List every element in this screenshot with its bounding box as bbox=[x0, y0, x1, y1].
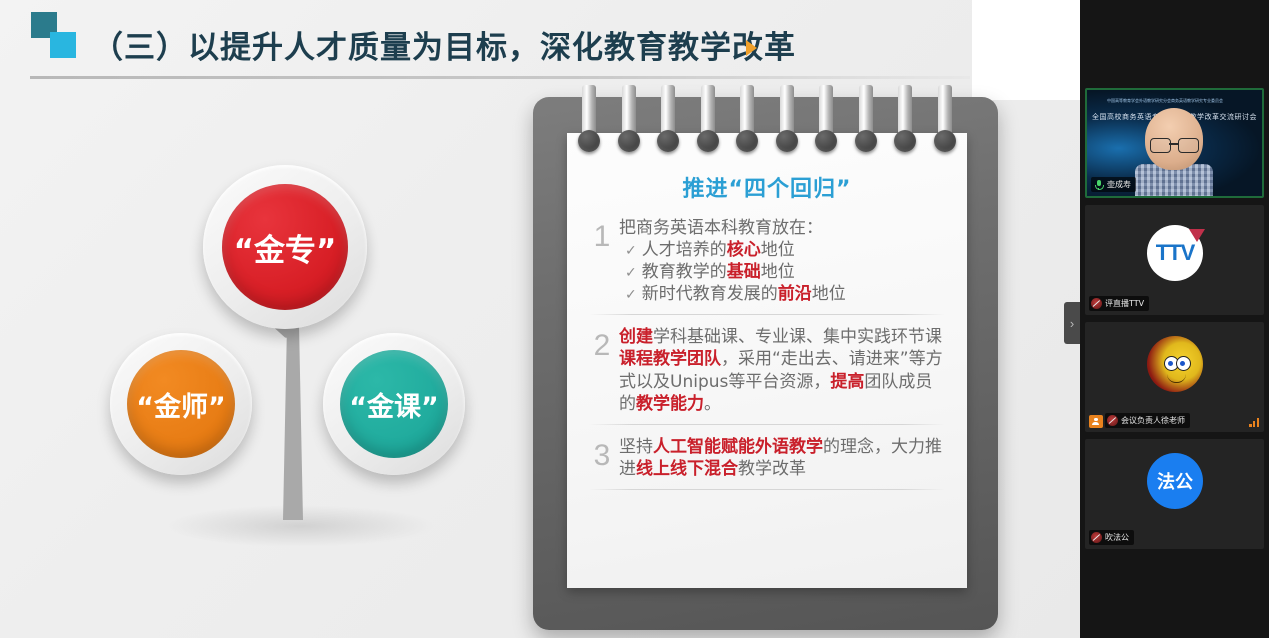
notepad-item-1: 1 把商务英语本科教育放在： ✓人才培养的核心地位 ✓教育教学的基础地位 ✓新时… bbox=[585, 217, 949, 305]
page-title: （三）以提升人才质量为目标，深化教育教学改革 bbox=[92, 22, 796, 67]
ttv-avatar-text: TTV bbox=[1156, 240, 1195, 266]
presentation-slide: （三）以提升人才质量为目标，深化教育教学改革 福建商学院 FUJIAN BUSI… bbox=[0, 0, 1080, 638]
notepad-item-2-seg-7: 教学能力 bbox=[636, 394, 704, 414]
notepad-item-2-seg-1: 创建 bbox=[619, 327, 653, 347]
microphone-muted-icon bbox=[1107, 415, 1118, 426]
check-2-post: 地位 bbox=[761, 262, 795, 282]
signal-strength-icon bbox=[1249, 418, 1259, 427]
notepad-item-1-number: 1 bbox=[585, 217, 619, 253]
spiral-ring bbox=[776, 130, 798, 152]
check-icon: ✓ bbox=[625, 243, 637, 259]
check-icon: ✓ bbox=[625, 287, 637, 303]
notepad-item-3: 3 坚持人工智能赋能外语教学的理念，大力推进线上线下混合教学改革 bbox=[585, 436, 949, 480]
tree-node-jinshi: “金师” bbox=[110, 333, 252, 475]
check-3-highlight: 前沿 bbox=[778, 284, 812, 304]
ttv-name-bar: 评直播TTV bbox=[1089, 296, 1149, 311]
spiral-ring bbox=[618, 130, 640, 152]
university-logo-backdrop: 福建商学院 FUJIAN BUSINESS UNIVERSITY bbox=[972, 0, 1080, 100]
participant-tile-host[interactable]: 会议负责人徐老师 bbox=[1085, 322, 1264, 432]
glasses-bridge bbox=[1169, 143, 1178, 145]
fagong-name-bar: 吹法公 bbox=[1089, 530, 1134, 545]
avatar-pupil-left bbox=[1168, 361, 1173, 366]
notepad-item-2-seg-5: 提高 bbox=[830, 372, 864, 392]
spiral-ring bbox=[934, 130, 956, 152]
glasses-icon bbox=[1149, 138, 1199, 151]
microphone-muted-icon bbox=[1091, 298, 1102, 309]
notepad-item-3-number: 3 bbox=[585, 436, 619, 472]
app-root: （三）以提升人才质量为目标，深化教育教学改革 福建商学院 FUJIAN BUSI… bbox=[0, 0, 1269, 638]
host-avatar bbox=[1147, 336, 1203, 392]
spiral-ring bbox=[894, 130, 916, 152]
notepad-item-1-check-2: ✓教育教学的基础地位 bbox=[619, 261, 949, 283]
spiral-ring bbox=[697, 130, 719, 152]
speaker-banner-subtitle: 中国高等教育学会外语教学研究分会商务英语教学研究专业委员会 bbox=[1107, 98, 1223, 104]
notepad-item-3-seg-5: 教学改革 bbox=[738, 459, 806, 479]
check-1-highlight: 核心 bbox=[727, 240, 761, 260]
ttv-display-name: 评直播TTV bbox=[1105, 298, 1144, 309]
notepad-divider-1 bbox=[589, 314, 945, 315]
notepad-item-1-lead: 把商务英语本科教育放在： bbox=[619, 217, 949, 239]
notepad-spiral-binding bbox=[567, 85, 967, 155]
avatar-pupil-right bbox=[1180, 361, 1185, 366]
decoration-square-light bbox=[50, 32, 76, 58]
host-display-name: 会议负责人徐老师 bbox=[1121, 415, 1185, 426]
microphone-muted-icon bbox=[1091, 532, 1102, 543]
speaker-display-name: 壶成寿 bbox=[1107, 179, 1131, 190]
notepad-item-3-seg-4: 线上线下混合 bbox=[636, 459, 738, 479]
check-2-pre: 教育教学的 bbox=[642, 262, 727, 282]
notepad-divider-3 bbox=[589, 489, 945, 490]
check-3-post: 地位 bbox=[812, 284, 846, 304]
participant-tile-ttv[interactable]: TTV 评直播TTV bbox=[1085, 205, 1264, 315]
check-1-pre: 人才培养的 bbox=[642, 240, 727, 260]
fagong-display-name: 吹法公 bbox=[1105, 532, 1129, 543]
notepad-item-3-seg-1: 坚持 bbox=[619, 437, 653, 457]
notepad-item-2: 2 创建学科基础课、专业课、集中实践环节课课程教学团队，采用“走出去、请进来”等… bbox=[585, 326, 949, 414]
notepad-item-2-seg-2: 学科基础课、专业课、集中实践环节课 bbox=[653, 327, 942, 347]
notepad-item-2-seg-3: 课程教学团队 bbox=[619, 349, 721, 369]
participant-tile-fagong[interactable]: 法公 吹法公 bbox=[1085, 439, 1264, 549]
ttv-avatar: TTV bbox=[1147, 225, 1203, 281]
chevron-right-icon[interactable]: › bbox=[1064, 302, 1080, 344]
avatar-mouth bbox=[1167, 374, 1186, 383]
notepad-item-2-number: 2 bbox=[585, 326, 619, 362]
tree-node-jinke-label: “金课” bbox=[340, 350, 448, 458]
notepad-item-1-check-1: ✓人才培养的核心地位 bbox=[619, 239, 949, 261]
title-arrow-icon bbox=[746, 40, 757, 56]
three-gold-tree-graphic: “金专” “金师” “金课” bbox=[110, 175, 490, 595]
notepad-item-2-text: 创建学科基础课、专业课、集中实践环节课课程教学团队，采用“走出去、请进来”等方式… bbox=[619, 326, 949, 414]
check-2-highlight: 基础 bbox=[727, 262, 761, 282]
notepad-item-1-text: 把商务英语本科教育放在： ✓人才培养的核心地位 ✓教育教学的基础地位 ✓新时代教… bbox=[619, 217, 949, 305]
check-3-pre: 新时代教育发展的 bbox=[642, 284, 778, 304]
notepad-item-3-text: 坚持人工智能赋能外语教学的理念，大力推进线上线下混合教学改革 bbox=[619, 436, 949, 480]
speaker-name-bar: 壶成寿 bbox=[1091, 177, 1136, 192]
participant-tile-speaker[interactable]: 中国高等教育学会外语教学研究分会商务英语教学研究专业委员会 全国高校商务英语专业… bbox=[1085, 88, 1264, 198]
tree-node-jinshi-label: “金师” bbox=[127, 350, 235, 458]
spiral-ring bbox=[657, 130, 679, 152]
tree-node-jinzhuan: “金专” bbox=[203, 165, 367, 329]
spiral-ring bbox=[855, 130, 877, 152]
spiral-ring bbox=[736, 130, 758, 152]
notepad-item-2-seg-8: 。 bbox=[704, 394, 721, 414]
tree-node-jinke: “金课” bbox=[323, 333, 465, 475]
header-divider bbox=[30, 76, 970, 79]
check-1-post: 地位 bbox=[761, 240, 795, 260]
notepad-heading: 推进“四个回归” bbox=[585, 171, 949, 203]
spiral-ring bbox=[578, 130, 600, 152]
video-participant-sidebar: 中国高等教育学会外语教学研究分会商务英语教学研究专业委员会 全国高校商务英语专业… bbox=[1080, 0, 1269, 638]
speaker-person bbox=[1139, 108, 1209, 198]
ttv-triangle-icon bbox=[1189, 229, 1205, 242]
tree-node-jinzhuan-label: “金专” bbox=[222, 184, 348, 310]
notepad-divider-2 bbox=[589, 424, 945, 425]
slide-header: （三）以提升人才质量为目标，深化教育教学改革 bbox=[0, 0, 1080, 86]
lens-right bbox=[1178, 138, 1199, 153]
notepad-item-1-check-3: ✓新时代教育发展的前沿地位 bbox=[619, 283, 949, 305]
fagong-avatar: 法公 bbox=[1147, 453, 1203, 509]
spiral-ring bbox=[815, 130, 837, 152]
lens-left bbox=[1150, 138, 1171, 153]
check-icon: ✓ bbox=[625, 265, 637, 281]
notepad-content: 推进“四个回归” 1 把商务英语本科教育放在： ✓人才培养的核心地位 ✓教育教学… bbox=[567, 133, 967, 588]
microphone-on-icon bbox=[1093, 179, 1104, 190]
host-badge-icon bbox=[1089, 415, 1103, 428]
host-name-bar: 会议负责人徐老师 bbox=[1105, 413, 1190, 428]
notepad-graphic: 推进“四个回归” 1 把商务英语本科教育放在： ✓人才培养的核心地位 ✓教育教学… bbox=[533, 97, 998, 630]
notepad-item-3-seg-2: 人工智能赋能外语教学 bbox=[653, 437, 823, 457]
